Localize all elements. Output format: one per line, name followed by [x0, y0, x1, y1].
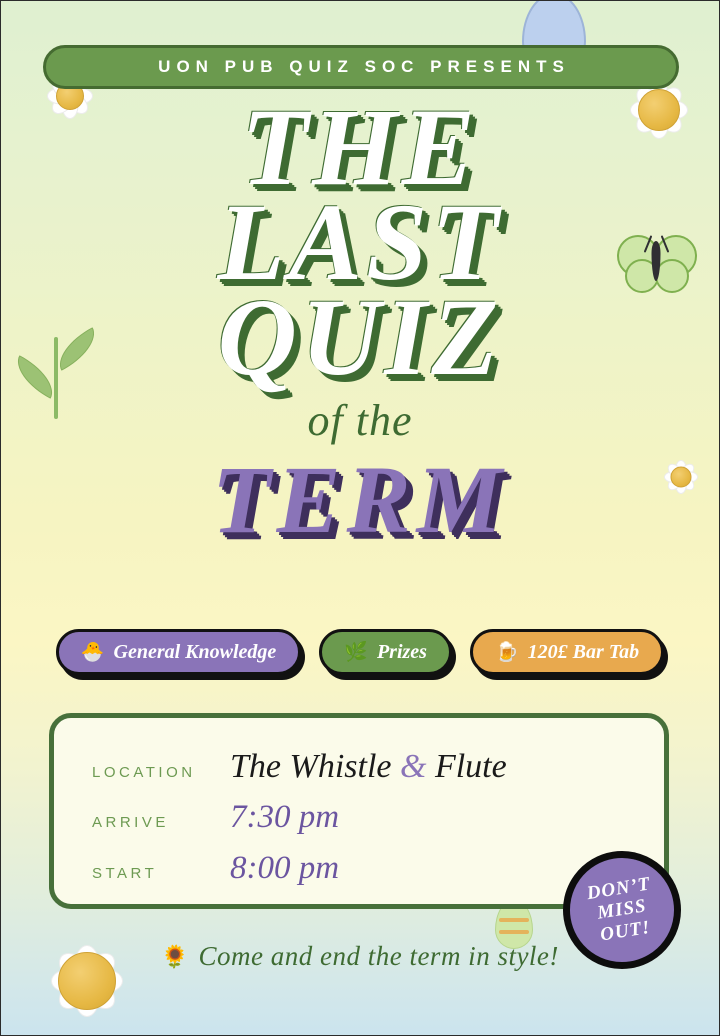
hatching-chick-icon: 🐣 [81, 643, 105, 662]
presenter-banner-text: UON PUB QUIZ SOC PRESENTS [152, 57, 570, 77]
pill-general-knowledge-label: General Knowledge [114, 641, 277, 664]
detail-value-start: 8:00 pm [230, 850, 339, 886]
sunflower-icon: 🌻 [161, 946, 188, 968]
poster: UON PUB QUIZ SOC PRESENTS THE LAST QUIZ … [0, 0, 720, 1036]
pill-bar-tab-label: 120£ Bar Tab [528, 641, 640, 664]
detail-value-location: The Whistle & Flute [230, 748, 507, 785]
pill-general-knowledge[interactable]: 🐣 General Knowledge [56, 629, 301, 675]
pill-prizes-label: Prizes [377, 641, 427, 664]
beer-mug-icon: 🍺 [495, 643, 519, 662]
footer-tagline-text: Come and end the term in style! [198, 941, 558, 972]
detail-value-arrive: 7:30 pm [230, 799, 339, 835]
detail-value-location-ampersand: & [400, 748, 426, 785]
presenter-banner: UON PUB QUIZ SOC PRESENTS [43, 45, 679, 89]
detail-value-location-pre: The Whistle [230, 748, 400, 785]
pill-bar-tab[interactable]: 🍺 120£ Bar Tab [470, 629, 664, 675]
detail-row-arrive: ARRIVE 7:30 pm [92, 799, 664, 835]
detail-label-location: LOCATION [92, 764, 230, 781]
detail-label-arrive: ARRIVE [92, 814, 230, 831]
detail-row-location: LOCATION The Whistle & Flute [92, 748, 664, 785]
title-line-term: TERM [1, 444, 719, 555]
feature-pill-list: 🐣 General Knowledge 🌿 Prizes 🍺 120£ Bar … [1, 629, 719, 675]
title-connector: of the [1, 395, 719, 446]
detail-value-location-post: Flute [426, 748, 506, 785]
herb-leaf-icon: 🌿 [344, 643, 368, 662]
title-line-quiz: QUIZ [1, 287, 719, 388]
pill-prizes[interactable]: 🌿 Prizes [319, 629, 452, 675]
detail-label-start: START [92, 865, 230, 882]
title-block: THE LAST QUIZ of the TERM [1, 97, 719, 555]
